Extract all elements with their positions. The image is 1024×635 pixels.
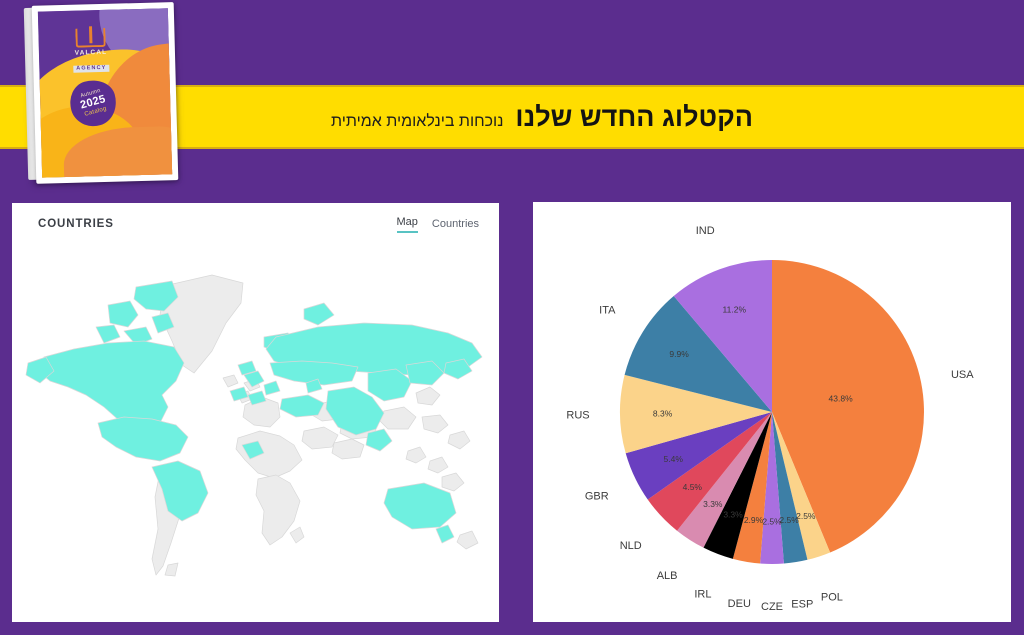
pie-value-nld: 4.5% — [683, 482, 703, 492]
world-map-svg — [12, 245, 499, 622]
world-map[interactable] — [12, 245, 499, 622]
pie-label-usa: USA — [951, 369, 974, 381]
pie-label-ind: IND — [696, 225, 715, 237]
pie-label-gbr: GBR — [585, 490, 609, 502]
pie-label-deu: DEU — [728, 598, 751, 610]
pie-value-rus: 8.3% — [653, 409, 673, 419]
logo-name: VALCAL — [61, 48, 121, 57]
page-title: COUNTRIES — [38, 218, 114, 230]
pie-value-ita: 9.9% — [669, 349, 689, 359]
valcal-logo: VALCAL AGENCY — [60, 27, 121, 75]
pie-value-cze: 2.5% — [762, 516, 782, 526]
open-book-icon — [75, 28, 105, 48]
country-share-pie-chart[interactable]: 43.8%2.5%2.5%2.5%2.9%3.3%3.3%4.5%5.4%8.3… — [533, 202, 1011, 622]
pie-label-nld: NLD — [620, 540, 642, 552]
pie-label-alb: ALB — [657, 570, 678, 582]
countries-pie-panel: 43.8%2.5%2.5%2.5%2.9%3.3%3.3%4.5%5.4%8.3… — [533, 202, 1011, 622]
countries-map-panel: COUNTRIES Map Countries — [12, 203, 499, 622]
pie-label-irl: IRL — [694, 588, 711, 600]
pie-label-esp: ESP — [791, 599, 813, 611]
tab-map[interactable]: Map — [397, 216, 418, 233]
pie-value-pol: 2.5% — [796, 511, 816, 521]
pie-label-rus: RUS — [566, 410, 589, 422]
map-panel-header: COUNTRIES Map Countries — [12, 203, 499, 245]
pie-value-esp: 2.5% — [779, 515, 799, 525]
tab-countries[interactable]: Countries — [432, 218, 479, 233]
pie-value-alb: 3.3% — [703, 499, 723, 509]
catalog-book-mockup: VALCAL AGENCY Autumn 2025 Catalog — [24, 0, 181, 186]
banner-subtitle: נוכחות בינלאומית אמיתית — [331, 113, 503, 131]
pie-value-usa: 43.8% — [829, 393, 854, 403]
pie-value-ind: 11.2% — [723, 304, 747, 314]
pie-label-cze: CZE — [761, 601, 783, 613]
logo-subtitle: AGENCY — [73, 64, 109, 72]
banner-title: הקטלוג החדש שלנו — [515, 102, 753, 133]
map-view-tabs[interactable]: Map Countries — [397, 216, 479, 233]
pie-value-irl: 3.3% — [723, 509, 743, 519]
pie-value-gbr: 5.4% — [664, 454, 684, 464]
pie-value-deu: 2.9% — [744, 515, 764, 525]
pie-label-ita: ITA — [599, 304, 616, 316]
pie-label-pol: POL — [821, 592, 843, 604]
